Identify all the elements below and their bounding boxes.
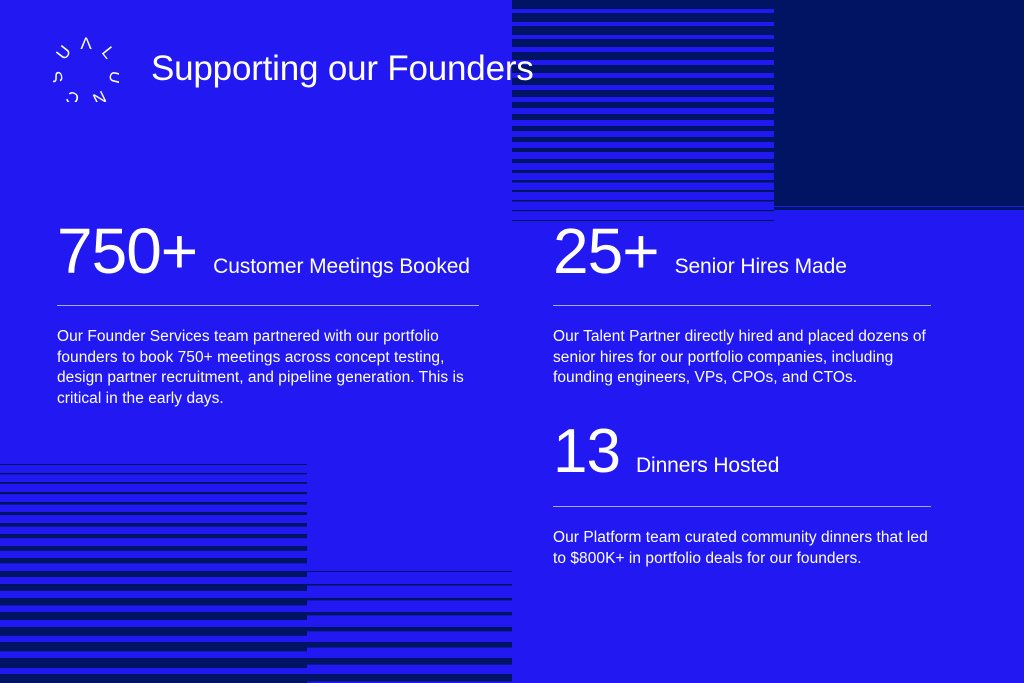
sunac-circular-logo[interactable]: Λ L U N C S U	[53, 36, 119, 102]
stat-divider	[553, 506, 931, 507]
header: Λ L U N C S U Supporting our Founders	[53, 36, 534, 102]
logo-letter-c: C	[63, 87, 82, 102]
stat-label: Customer Meetings Booked	[213, 255, 470, 279]
logo-icon: Λ L U N C S U	[53, 36, 119, 102]
stat-block-dinners: 13 Dinners Hosted Our Platform team cura…	[553, 420, 931, 569]
stat-description: Our Talent Partner directly hired and pl…	[553, 327, 931, 389]
logo-letter-n: N	[90, 87, 109, 102]
page-title: Supporting our Founders	[151, 49, 534, 89]
stat-label: Senior Hires Made	[675, 255, 847, 279]
stat-heading: 750+ Customer Meetings Booked	[57, 219, 479, 283]
logo-letter-u1: U	[105, 69, 119, 85]
stat-divider	[553, 305, 931, 306]
stat-value: 25+	[553, 219, 659, 283]
stat-value: 13	[553, 420, 620, 484]
stat-value: 750+	[57, 219, 197, 283]
logo-letter-l: L	[98, 43, 119, 62]
logo-letter-s: S	[53, 70, 67, 85]
stat-divider	[57, 305, 479, 306]
logo-letter-a: Λ	[80, 36, 92, 53]
logo-letter-u2: U	[53, 42, 75, 63]
stat-block-hires: 25+ Senior Hires Made Our Talent Partner…	[553, 219, 931, 389]
stat-label: Dinners Hosted	[636, 454, 779, 478]
stat-heading: 25+ Senior Hires Made	[553, 219, 931, 283]
stat-description: Our Platform team curated community dinn…	[553, 528, 931, 569]
stat-heading: 13 Dinners Hosted	[553, 420, 931, 484]
stat-description: Our Founder Services team partnered with…	[57, 327, 479, 409]
stat-block-meetings: 750+ Customer Meetings Booked Our Founde…	[57, 219, 479, 409]
slide-content: Λ L U N C S U Supporting our Founders 75…	[0, 0, 1024, 683]
